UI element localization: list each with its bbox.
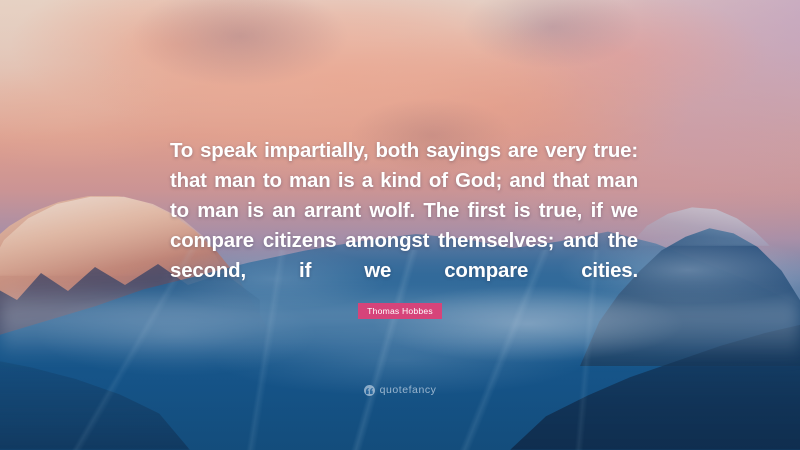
quote-text: To speak impartially, both sayings are v… [170, 136, 638, 286]
author-name-badge: Thomas Hobbes [358, 303, 442, 319]
quote-mark-icon [364, 385, 375, 396]
quote-card: To speak impartially, both sayings are v… [0, 0, 800, 450]
quotefancy-wordmark: quotefancy [380, 385, 437, 396]
author-attribution: Thomas Hobbes [0, 303, 800, 319]
card-content: To speak impartially, both sayings are v… [0, 0, 800, 450]
quotefancy-watermark[interactable]: quotefancy [0, 385, 800, 396]
